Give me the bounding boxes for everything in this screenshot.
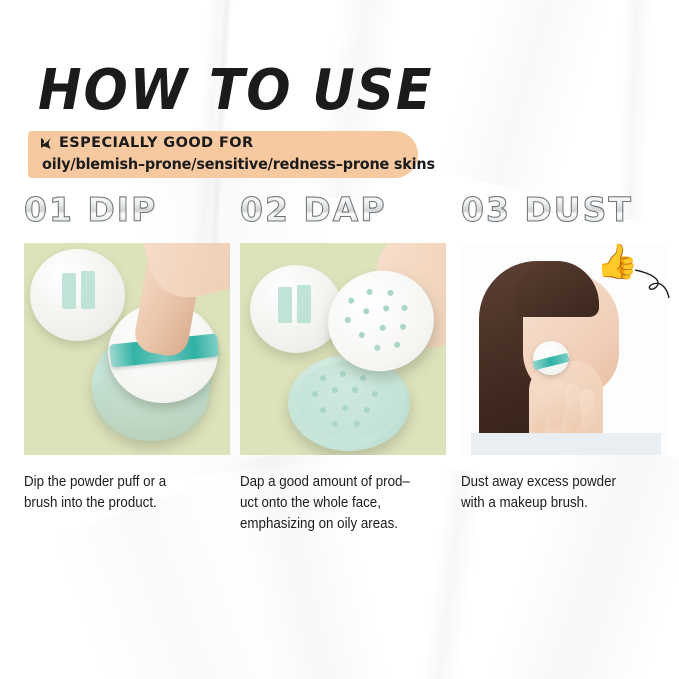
step-column-3: 03 DUST Dust away excess powder with a m… [461,190,667,514]
step-column-1: 01 DIP Dip the powder puff or a brush in… [24,190,230,514]
page-title: HOW TO USE [38,63,433,119]
step-column-2: 02 DAP Dap a good amount of prod– uct on… [240,190,446,535]
step-photo-2 [240,243,446,455]
banner-heading: ESPECIALLY GOOD FOR [59,135,254,151]
step-heading-3: 03 DUST [461,190,667,234]
banner-subheading: oily/blemish–prone/sensitive/redness–pro… [42,155,435,173]
sifter-lid [296,361,402,439]
step-photo-1 [24,243,230,455]
step-caption-3: Dust away excess powder with a makeup br… [461,472,651,514]
especially-good-for-banner: ESPECIALLY GOOD FOR oily/blemish–prone/s… [28,131,418,178]
jar-lid [250,265,342,353]
shoulder [471,433,661,455]
step-caption-2: Dap a good amount of prod– uct onto the … [240,472,430,535]
step-heading-1: 01 DIP [24,190,230,234]
step-heading-2: 02 DAP [240,190,446,234]
thumbs-up-emoji: 👍 [596,245,638,279]
step-caption-1: Dip the powder puff or a brush into the … [24,472,214,514]
jar-lid [30,249,125,341]
ribbon-icon [40,137,53,150]
curved-line-doodle [633,268,673,302]
